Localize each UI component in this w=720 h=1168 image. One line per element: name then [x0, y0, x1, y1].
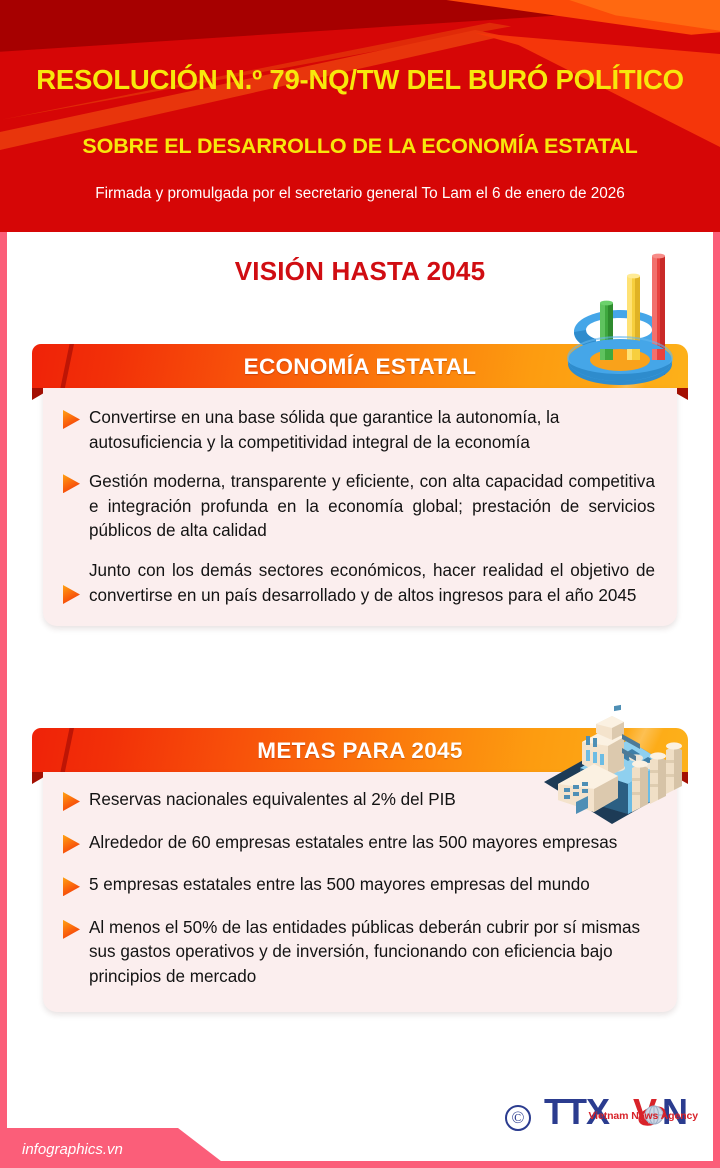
bullet-text: Convertirse en una base sólida que garan… [89, 406, 655, 455]
page-note: Firmada y promulgada por el secretario g… [0, 186, 720, 201]
bullet-text: 5 empresas estatales entre las 500 mayor… [89, 873, 590, 898]
bullet-text: Junto con los demás sectores económicos,… [89, 559, 655, 608]
site-label: infographics.vn [22, 1142, 123, 1157]
list-item: Junto con los demás sectores económicos,… [63, 559, 655, 608]
list-item: Convertirse en una base sólida que garan… [63, 406, 655, 455]
bullet-text: Gestión moderna, transparente y eficient… [89, 470, 655, 544]
logo-tagline: Vietnam News Agency [588, 1110, 698, 1122]
bar-chart-3d-icon [540, 248, 700, 400]
arrow-bullet-icon [63, 920, 80, 939]
card-body: Convertirse en una base sólida que garan… [43, 388, 677, 626]
list-item: Gestión moderna, transparente y eficient… [63, 470, 655, 544]
arrow-bullet-icon [63, 877, 80, 896]
bullet-text: Al menos el 50% de las entidades pública… [89, 916, 655, 990]
bullet-text: Reservas nacionales equivalentes al 2% d… [89, 788, 456, 813]
list-item: Alrededor de 60 empresas estatales entre… [63, 831, 655, 856]
bullet-list: Convertirse en una base sólida que garan… [43, 388, 677, 626]
header-banner: RESOLUCIÓN N.º 79-NQ/TW DEL BURÓ POLÍTIC… [0, 0, 720, 232]
border-left [0, 232, 7, 1168]
arrow-bullet-icon [63, 835, 80, 854]
arrow-bullet-icon [63, 792, 80, 811]
page-title: RESOLUCIÓN N.º 79-NQ/TW DEL BURÓ POLÍTIC… [0, 66, 720, 94]
list-item: 5 empresas estatales entre las 500 mayor… [63, 873, 655, 898]
page-subtitle: SOBRE EL DESARROLLO DE LA ECONOMÍA ESTAT… [0, 136, 720, 158]
list-item: Al menos el 50% de las entidades pública… [63, 916, 655, 990]
border-right [713, 232, 720, 1168]
arrow-bullet-icon [63, 585, 80, 604]
infographic-page: RESOLUCIÓN N.º 79-NQ/TW DEL BURÓ POLÍTIC… [0, 0, 720, 1168]
arrow-bullet-icon [63, 410, 80, 429]
copyright-icon: © [505, 1105, 531, 1131]
bullet-text: Alrededor de 60 empresas estatales entre… [89, 831, 617, 856]
ttxvn-logo: TTX N V Vietnam News Agency [544, 1090, 704, 1142]
factory-icon [524, 672, 700, 830]
arrow-bullet-icon [63, 474, 80, 493]
